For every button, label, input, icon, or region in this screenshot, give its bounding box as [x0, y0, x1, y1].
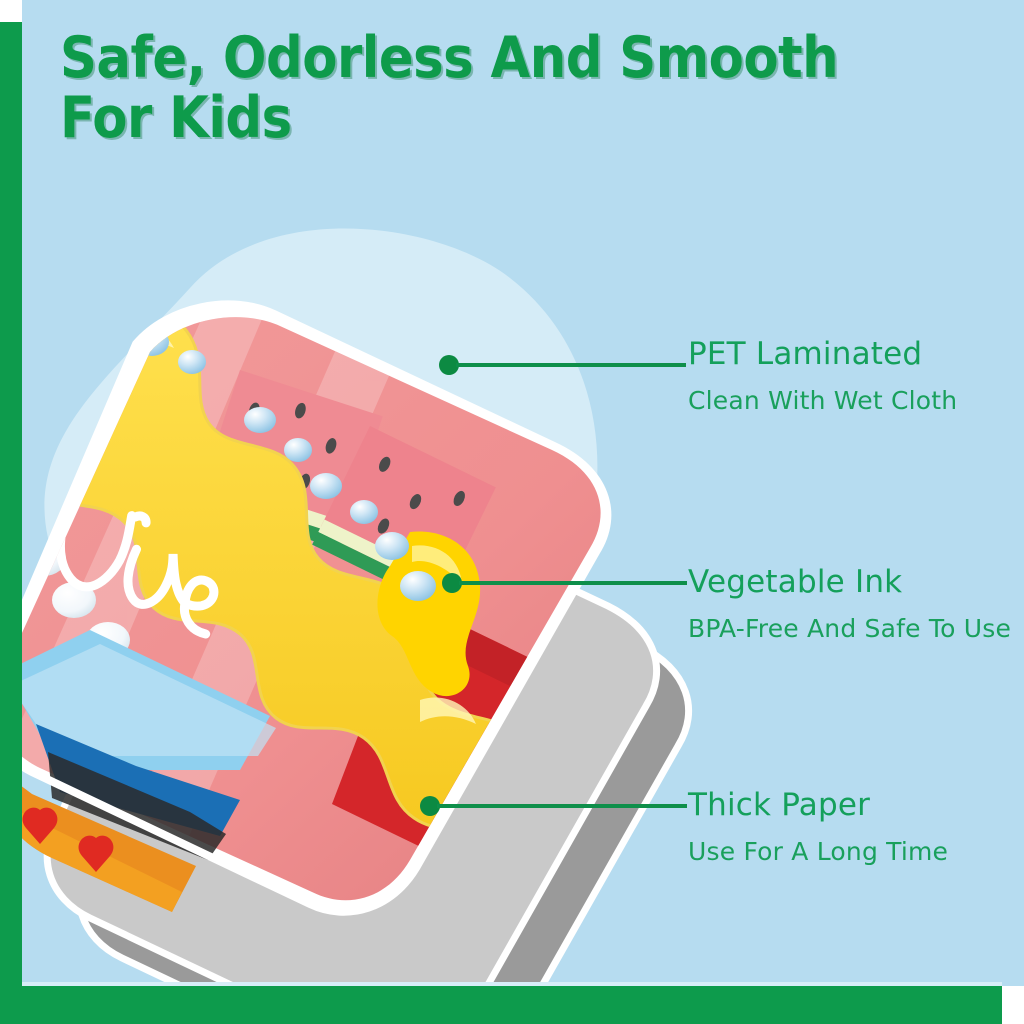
frame-bottom-bar — [0, 986, 1002, 1024]
leader-stroke — [456, 363, 686, 367]
callout-heading-thick-paper: Thick Paper — [688, 787, 870, 823]
leader-stroke — [459, 581, 687, 585]
frame-left-bar — [0, 22, 22, 1024]
callout-subtext-vegetable-ink: BPA-Free And Safe To Use — [688, 614, 1011, 643]
callout-subtext-thick-paper: Use For A Long Time — [688, 837, 948, 866]
page-title-line-1: Safe, Odorless And Smooth — [60, 28, 900, 88]
callout-subtext-pet-laminated: Clean With Wet Cloth — [688, 386, 957, 415]
callout-heading-pet-laminated: PET Laminated — [688, 336, 922, 372]
callout-heading-vegetable-ink: Vegetable Ink — [688, 564, 902, 600]
product-illustration — [0, 300, 700, 1024]
corner-notch-bottom-right — [1002, 986, 1024, 1024]
leader-stroke — [437, 804, 687, 808]
infographic-canvas: Safe, Odorless And Smooth For Kids PET L… — [0, 0, 1024, 1024]
page-title: Safe, Odorless And Smooth For Kids — [60, 28, 900, 148]
corner-notch-top-left — [0, 0, 22, 22]
page-title-line-2: For Kids — [60, 88, 900, 148]
